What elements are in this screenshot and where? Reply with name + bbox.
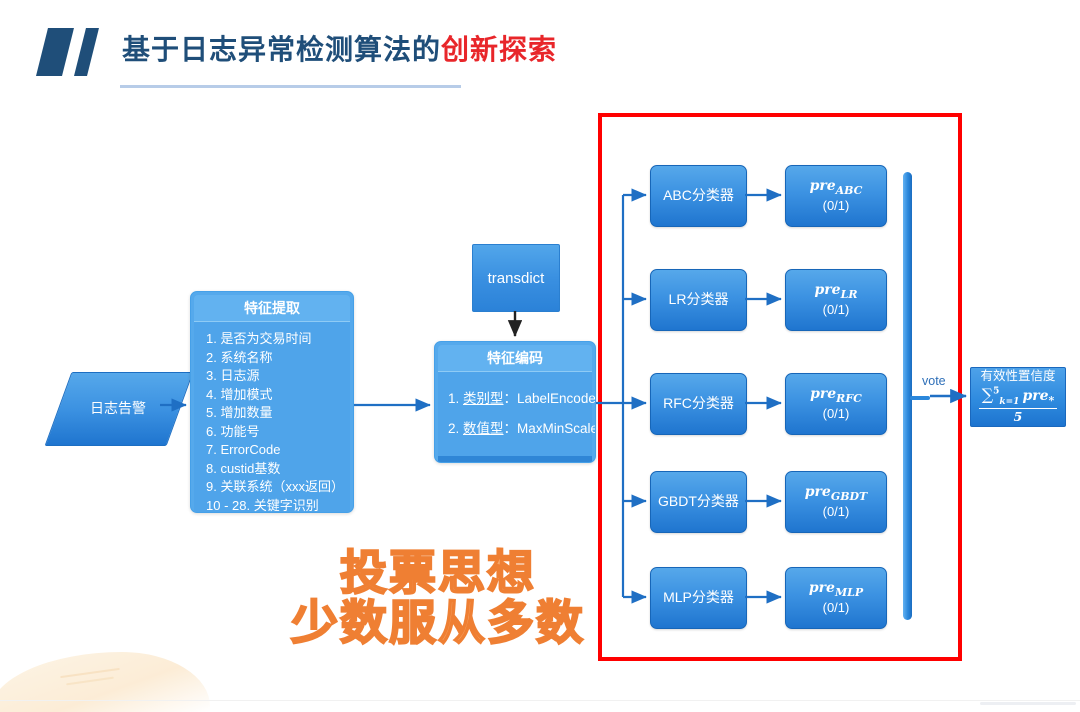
numerator-term-base: pre	[1022, 388, 1048, 404]
feature-encoding-item-separator: ：	[504, 391, 518, 406]
prediction-symbol-sub: LR	[841, 288, 858, 301]
feature-extraction-item: 2. 系统名称	[206, 349, 340, 368]
classifier-node[interactable]: ABC分类器	[650, 165, 747, 227]
slogan-line-1: 投票思想	[268, 548, 608, 598]
title-bar-thin	[74, 28, 99, 76]
slide-canvas: 基于日志异常检测算法的创新探索 日志告警 特征提取 1. 是否为交易时间2. 系…	[0, 0, 1080, 712]
input-node-label: 日志告警	[58, 372, 178, 444]
feature-encoding-list: 1. 类别型：LabelEncoder2. 数值型：MaxMinScaler	[438, 372, 592, 456]
classifier-node[interactable]: LR分类器	[650, 269, 747, 331]
feature-encoding-item-separator: ：	[504, 421, 518, 436]
bottom-left-decoration	[0, 652, 210, 712]
prediction-symbol-sub: RFC	[836, 392, 862, 405]
prediction-symbol-base: pre	[805, 484, 831, 500]
page-title-main: 基于日志异常检测算法的	[122, 34, 441, 65]
fraction-denominator: 5	[979, 409, 1058, 424]
prediction-range: (0/1)	[823, 198, 850, 214]
prediction-node[interactable]: preABC(0/1)	[785, 165, 887, 227]
feature-encoding-footer: 输出：特征向量	[438, 456, 592, 463]
feature-extraction-item: 7. ErrorCode	[206, 441, 340, 460]
footer-divider	[0, 700, 1080, 701]
numerator-term-sub: *	[1049, 393, 1055, 406]
prediction-range: (0/1)	[823, 504, 850, 520]
classifier-node-label: GBDT分类器	[658, 493, 739, 511]
classifier-node-label: LR分类器	[669, 291, 729, 309]
feature-encoding-panel[interactable]: 特征编码 1. 类别型：LabelEncoder2. 数值型：MaxMinSca…	[434, 341, 596, 463]
numerator-term: pre*	[1022, 388, 1054, 404]
feature-encoding-item-key: 类别型	[463, 391, 504, 406]
prediction-symbol: preLR	[815, 282, 858, 302]
prediction-symbol: preGBDT	[805, 484, 868, 504]
feature-encoding-item-index: 1.	[448, 391, 463, 406]
classifier-node-label: MLP分类器	[663, 589, 734, 607]
feature-extraction-item: 8. custid基数	[206, 460, 340, 479]
prediction-symbol-base: pre	[810, 386, 836, 402]
classifier-node-label: RFC分类器	[663, 395, 734, 413]
vote-label: vote	[922, 374, 946, 388]
feature-encoding-header: 特征编码	[438, 345, 592, 372]
classifier-node-label: ABC分类器	[663, 187, 734, 205]
feature-encoding-item: 1. 类别型：LabelEncoder	[448, 384, 582, 414]
page-title: 基于日志异常检测算法的创新探索	[122, 28, 557, 72]
classifier-node[interactable]: GBDT分类器	[650, 471, 747, 533]
final-confidence-formula: ∑5k=1pre* 5	[979, 385, 1058, 424]
feature-extraction-item: 5. 增加数量	[206, 404, 340, 423]
feature-extraction-item: 4. 增加模式	[206, 386, 340, 405]
input-node-log-alarm[interactable]: 日志告警	[58, 372, 178, 444]
prediction-symbol-sub: ABC	[836, 184, 863, 197]
final-confidence-node[interactable]: 有效性置信度 ∑5k=1pre* 5	[970, 367, 1066, 427]
fraction-numerator: ∑5k=1pre*	[979, 385, 1058, 409]
classifier-node[interactable]: RFC分类器	[650, 373, 747, 435]
footer-accent	[980, 702, 1076, 705]
prediction-node[interactable]: preLR(0/1)	[785, 269, 887, 331]
final-confidence-title: 有效性置信度	[980, 370, 1055, 384]
sigma-upper-limit: 5	[993, 386, 999, 396]
feature-extraction-list: 1. 是否为交易时间2. 系统名称3. 日志源4. 增加模式5. 增加数量6. …	[194, 322, 350, 513]
prediction-symbol: preMLP	[809, 580, 863, 600]
prediction-symbol-sub: GBDT	[831, 490, 867, 503]
prediction-symbol-base: pre	[810, 178, 836, 194]
feature-extraction-item: 9. 关联系统（xxx返回）	[206, 478, 340, 497]
sigma-lower-limit: k=1	[999, 397, 1019, 407]
sigma-symbol: ∑5k=1	[982, 385, 1020, 404]
feature-extraction-header: 特征提取	[194, 295, 350, 322]
prediction-range: (0/1)	[823, 302, 850, 318]
feature-extraction-item: 1. 是否为交易时间	[206, 330, 340, 349]
page-title-accent: 创新探索	[441, 34, 557, 65]
prediction-node[interactable]: preMLP(0/1)	[785, 567, 887, 629]
feature-encoding-item: 2. 数值型：MaxMinScaler	[448, 414, 582, 444]
vote-collector-tab	[910, 396, 930, 400]
feature-encoding-item-value: MaxMinScaler	[517, 421, 596, 436]
prediction-range: (0/1)	[823, 600, 850, 616]
prediction-node[interactable]: preRFC(0/1)	[785, 373, 887, 435]
slogan-line-2: 少数服从多数	[268, 598, 608, 648]
title-decoration-bars	[38, 28, 118, 76]
prediction-symbol: preRFC	[810, 386, 862, 406]
prediction-symbol-sub: MLP	[835, 586, 863, 599]
feature-extraction-item: 3. 日志源	[206, 367, 340, 386]
feature-extraction-item: 6. 功能号	[206, 423, 340, 442]
feature-extraction-item: 10 - 28. 关键字识别	[206, 497, 340, 514]
classifier-node[interactable]: MLP分类器	[650, 567, 747, 629]
feature-encoding-item-value: LabelEncoder	[517, 391, 596, 406]
confidence-fraction: ∑5k=1pre* 5	[979, 385, 1058, 424]
title-underline	[120, 85, 461, 88]
prediction-symbol-base: pre	[809, 580, 835, 596]
feature-encoding-item-key: 数值型	[463, 421, 504, 436]
sigma-glyph: ∑	[982, 385, 993, 404]
title-bar-wide	[36, 28, 74, 76]
transdict-node[interactable]: transdict	[472, 244, 560, 312]
slogan-text: 投票思想 少数服从多数	[268, 548, 608, 648]
prediction-node[interactable]: preGBDT(0/1)	[785, 471, 887, 533]
feature-encoding-item-index: 2.	[448, 421, 463, 436]
prediction-symbol-base: pre	[815, 282, 841, 298]
prediction-range: (0/1)	[823, 406, 850, 422]
transdict-label: transdict	[488, 270, 545, 287]
feature-extraction-panel[interactable]: 特征提取 1. 是否为交易时间2. 系统名称3. 日志源4. 增加模式5. 增加…	[190, 291, 354, 513]
prediction-symbol: preABC	[810, 178, 863, 198]
